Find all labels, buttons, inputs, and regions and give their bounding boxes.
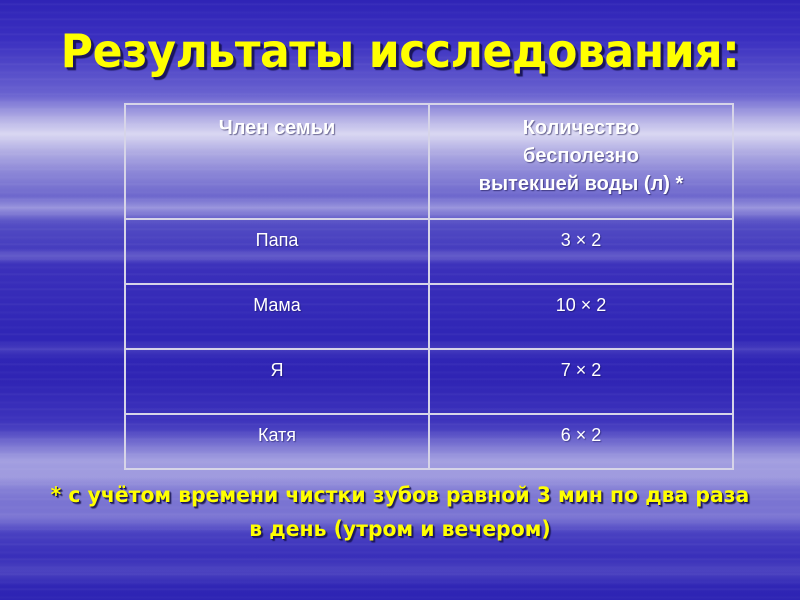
- column-header-amount-line3: вытекшей воды (л) *: [479, 173, 684, 195]
- cell-member: Мама: [125, 284, 429, 349]
- column-header-member: Член семьи: [125, 104, 429, 219]
- cell-member: Я: [125, 349, 429, 414]
- results-table: Член семьи Количество бесполезно вытекше…: [124, 103, 734, 470]
- column-header-amount: Количество бесполезно вытекшей воды (л) …: [429, 104, 733, 219]
- slide-canvas: Результаты исследования: Член семьи Коли…: [0, 0, 800, 600]
- cell-amount: 6 × 2: [429, 414, 733, 469]
- column-header-amount-line1: Количество: [523, 117, 640, 139]
- table-row: Я 7 × 2: [125, 349, 733, 414]
- table-row: Катя 6 × 2: [125, 414, 733, 469]
- column-header-amount-line2: бесполезно: [523, 145, 639, 167]
- slide-title: Результаты исследования:: [16, 25, 784, 77]
- cell-member: Катя: [125, 414, 429, 469]
- cell-amount: 10 × 2: [429, 284, 733, 349]
- cell-amount: 7 × 2: [429, 349, 733, 414]
- cell-member: Папа: [125, 219, 429, 284]
- cell-amount: 3 × 2: [429, 219, 733, 284]
- footnote-text: * с учётом времени чистки зубов равной 3…: [41, 478, 759, 546]
- table-header-row: Член семьи Количество бесполезно вытекше…: [125, 104, 733, 219]
- table-row: Папа 3 × 2: [125, 219, 733, 284]
- table-row: Мама 10 × 2: [125, 284, 733, 349]
